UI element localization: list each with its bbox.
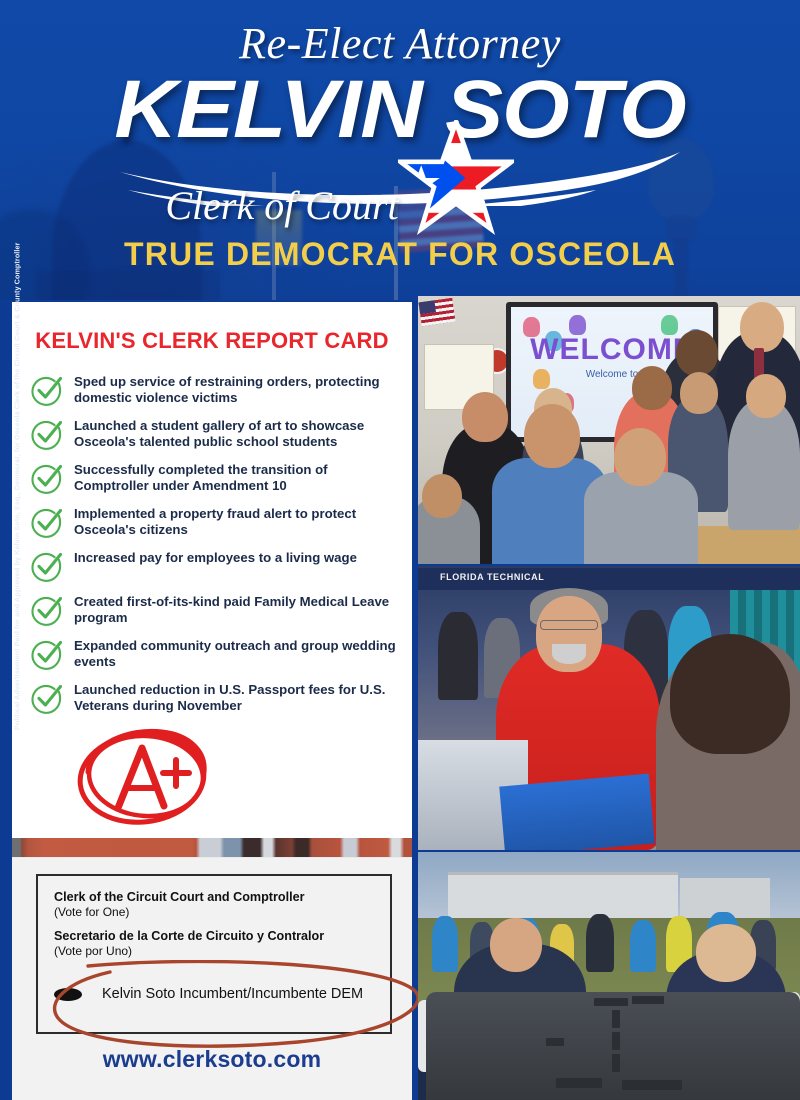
- community-outreach-photo: FLORIDA TECHNICAL: [418, 566, 800, 850]
- classroom-visit-photo: WELCOME Welcome to: [418, 296, 800, 564]
- report-card-title: KELVIN'S CLERK REPORT CARD: [12, 328, 412, 354]
- kelvin-soto-face: [490, 918, 542, 972]
- achievement-item: Expanded community outreach and group we…: [30, 638, 396, 671]
- achievement-item: Launched reduction in U.S. Passport fees…: [30, 682, 396, 715]
- tagline: TRUE DEMOCRAT FOR OSCEOLA: [0, 236, 800, 273]
- green-circled-checkmark-icon: [30, 683, 62, 715]
- achievement-item: Sped up service of restraining orders, p…: [30, 374, 396, 407]
- green-circled-checkmark-icon: [30, 419, 62, 451]
- fair-banner: FLORIDA TECHNICAL: [418, 568, 800, 590]
- achievement-item: Created first-of-its-kind paid Family Me…: [30, 594, 396, 627]
- grade-mark: [66, 724, 226, 834]
- campaign-mailer: Re-Elect Attorney KELVIN SOTO: [0, 0, 800, 1100]
- ballot-instruction-es: (Vote por Uno): [54, 944, 374, 959]
- ballot-panel: Clerk of the Circuit Court and Comptroll…: [12, 858, 412, 1100]
- green-circled-checkmark-icon: [30, 463, 62, 495]
- ballot-box: Clerk of the Circuit Court and Comptroll…: [36, 874, 392, 1034]
- green-circled-checkmark-icon: [30, 375, 62, 407]
- green-circled-checkmark-icon: [30, 639, 62, 671]
- achievement-list: Sped up service of restraining orders, p…: [12, 374, 412, 715]
- brick-building-strip: [12, 838, 412, 860]
- website-link[interactable]: www.clerksoto.com: [12, 1046, 412, 1073]
- achievement-item: Launched a student gallery of art to sho…: [30, 418, 396, 451]
- achievement-item: Increased pay for employees to a living …: [30, 550, 396, 583]
- green-circled-checkmark-icon: [30, 507, 62, 539]
- resident-hair: [670, 634, 790, 754]
- staff-beard: [552, 644, 586, 664]
- ballot-candidate-row[interactable]: Kelvin Soto Incumbent/Incumbente DEM: [54, 986, 363, 1002]
- disclaimer-text: Political Advertisement Paid for and App…: [13, 241, 22, 1001]
- achievement-text: Successfully completed the transition of…: [74, 462, 396, 493]
- achievement-text: Created first-of-its-kind paid Family Me…: [74, 594, 396, 625]
- achievement-text: Implemented a property fraud alert to pr…: [74, 506, 396, 537]
- achievement-text: Sped up service of restraining orders, p…: [74, 374, 396, 405]
- achievement-text: Launched reduction in U.S. Passport fees…: [74, 682, 396, 713]
- reelect-line: Re-Elect Attorney: [0, 18, 800, 69]
- ballot-office-es: Secretario de la Corte de Circuito y Con…: [54, 929, 374, 944]
- classroom-us-flag-icon: [418, 298, 455, 326]
- ballot-office-en: Clerk of the Circuit Court and Comptroll…: [54, 890, 374, 905]
- classroom-desk: [688, 526, 800, 564]
- achievement-text: Launched a student gallery of art to sho…: [74, 418, 396, 449]
- achievement-item: Successfully completed the transition of…: [30, 462, 396, 495]
- glasses-icon: [540, 620, 598, 630]
- child-face: [696, 924, 756, 982]
- green-circled-checkmark-icon: [30, 551, 62, 583]
- achievement-text: Expanded community outreach and group we…: [74, 638, 396, 669]
- hand-drawn-circle-icon: [48, 960, 428, 1050]
- school-supplies: [499, 774, 655, 850]
- ballot-candidate-name: Kelvin Soto Incumbent/Incumbente DEM: [102, 986, 363, 1002]
- filled-ballot-oval-icon[interactable]: [54, 988, 82, 1001]
- header-banner: Re-Elect Attorney KELVIN SOTO: [0, 0, 800, 300]
- achievement-text: Increased pay for employees to a living …: [74, 550, 357, 566]
- ballot-instruction-en: (Vote for One): [54, 905, 374, 920]
- dominoes-event-photo: [418, 852, 800, 1100]
- green-circled-checkmark-icon: [30, 595, 62, 627]
- fair-banner-text: FLORIDA TECHNICAL: [440, 572, 544, 582]
- office-title: Clerk of Court: [72, 182, 492, 229]
- dominoes-table: [426, 992, 800, 1100]
- achievement-item: Implemented a property fraud alert to pr…: [30, 506, 396, 539]
